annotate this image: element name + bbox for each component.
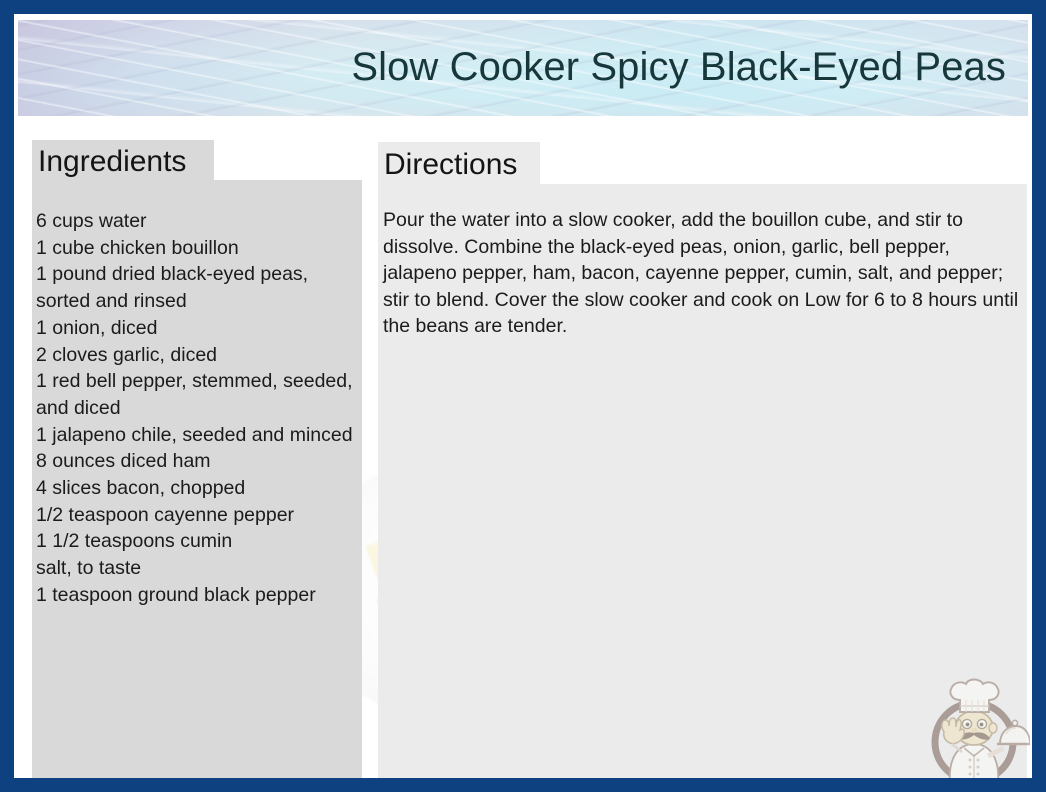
ingredient-item: salt, to taste (36, 555, 356, 582)
ingredients-heading: Ingredients (38, 144, 186, 180)
ingredient-item: 2 cloves garlic, diced (36, 342, 356, 369)
ingredient-item: 1 onion, diced (36, 315, 356, 342)
ingredient-item: 1 teaspoon ground black pepper (36, 582, 356, 609)
recipe-card: Slow Cooker Spicy Black-Eyed Peas (0, 0, 1046, 792)
ingredients-header-tab: Ingredients (32, 140, 214, 180)
directions-panel: Pour the water into a slow cooker, add t… (378, 184, 1027, 778)
page-title: Slow Cooker Spicy Black-Eyed Peas (351, 47, 1006, 87)
directions-header-tab: Directions (378, 142, 540, 184)
card-stage: Slow Cooker Spicy Black-Eyed Peas (14, 14, 1032, 778)
ingredients-panel: 6 cups water1 cube chicken bouillon1 pou… (32, 180, 362, 778)
ingredient-item: 1 red bell pepper, stemmed, seeded, and … (36, 368, 356, 421)
ingredient-item: 1 pound dried black-eyed peas, sorted an… (36, 261, 356, 314)
ingredient-item: 6 cups water (36, 208, 356, 235)
ingredients-list: 6 cups water1 cube chicken bouillon1 pou… (36, 208, 356, 609)
directions-heading: Directions (384, 147, 517, 183)
ingredient-item: 4 slices bacon, chopped (36, 475, 356, 502)
title-banner: Slow Cooker Spicy Black-Eyed Peas (18, 20, 1028, 116)
ingredient-item: 1 1/2 teaspoons cumin (36, 528, 356, 555)
ingredient-item: 1 cube chicken bouillon (36, 235, 356, 262)
directions-text: Pour the water into a slow cooker, add t… (383, 207, 1023, 340)
ingredient-item: 1 jalapeno chile, seeded and minced (36, 422, 356, 449)
ingredient-item: 8 ounces diced ham (36, 448, 356, 475)
ingredient-item: 1/2 teaspoon cayenne pepper (36, 502, 356, 529)
